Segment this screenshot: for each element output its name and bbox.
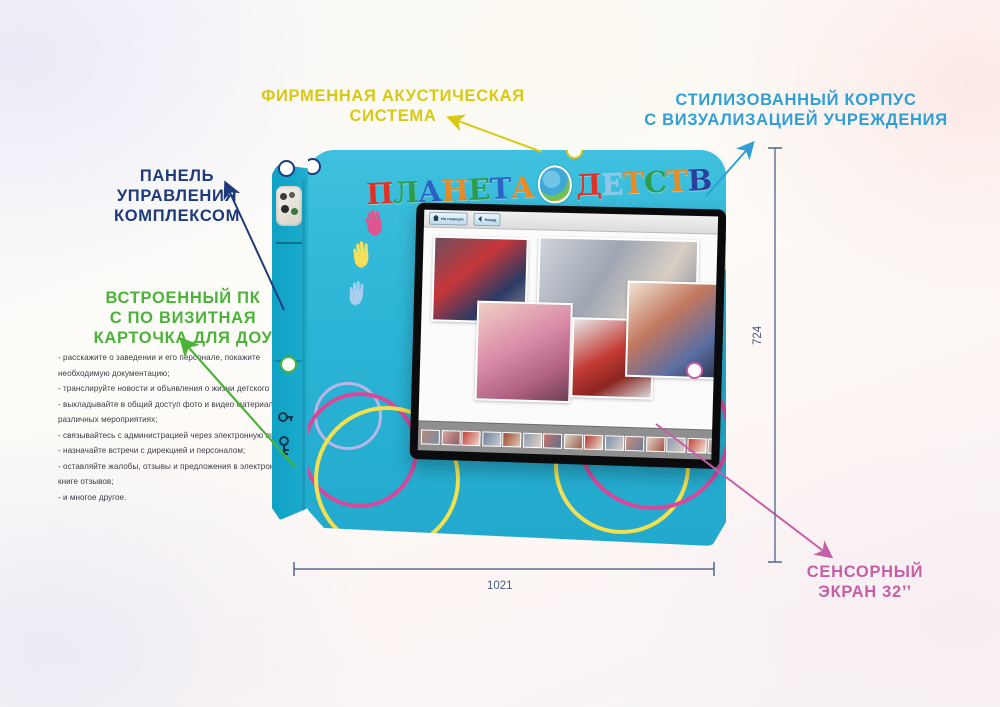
thumbnail[interactable] xyxy=(522,432,541,448)
brand-letter: Е xyxy=(468,172,491,207)
brand-letter: Л xyxy=(392,175,419,210)
dimension-height-label: 724 xyxy=(752,326,764,345)
callout-acoustic-system: ФИРМЕННАЯ АКУСТИЧЕСКАЯСИСТЕМА xyxy=(228,86,558,126)
thumbnail[interactable] xyxy=(707,438,712,454)
callout-acoustic-system-label: ФИРМЕННАЯ АКУСТИЧЕСКАЯСИСТЕМА xyxy=(261,87,525,125)
callout-control-panel: ПАНЕЛЬУПРАВЛЕНИЯКОМПЛЕКСОМ xyxy=(62,166,292,226)
connector-dot-acoustic xyxy=(566,142,583,159)
key-icon xyxy=(278,436,294,458)
brand-letter: В xyxy=(687,163,712,198)
brand-letter: Т xyxy=(489,171,511,206)
brand-letter: А xyxy=(510,170,535,205)
back-button-label: Назад xyxy=(485,217,497,222)
thumbnail[interactable] xyxy=(543,433,562,449)
dimension-line-height xyxy=(768,148,782,562)
handprint-icon xyxy=(345,278,370,312)
thumbnail[interactable] xyxy=(604,435,623,451)
description-block: - расскажите о заведении и его персонале… xyxy=(58,350,300,505)
thumbnail[interactable] xyxy=(666,437,686,453)
thumbnail[interactable] xyxy=(482,431,501,447)
brand-letter: Т xyxy=(622,166,644,201)
screen-content[interactable]: На главную Назад xyxy=(418,210,718,460)
photo-gallery[interactable] xyxy=(418,228,718,460)
chevron-left-icon xyxy=(478,216,483,223)
thumbnail[interactable] xyxy=(584,434,603,450)
brand-letter: С xyxy=(643,165,667,200)
thumbnail[interactable] xyxy=(421,429,440,445)
description-line: - назначайте встречи с дирекцией и персо… xyxy=(58,443,300,459)
kiosk-front-body: ПЛАНЕТАДЕТСТВА xyxy=(308,150,726,546)
callout-styled-body-label: СТИЛИЗОВАННЫЙ КОРПУСС ВИЗУАЛИЗАЦИЕЙ УЧРЕ… xyxy=(644,91,948,129)
callout-control-panel-label: ПАНЕЛЬУПРАВЛЕНИЯКОМПЛЕКСОМ xyxy=(114,167,240,225)
globe-icon xyxy=(537,165,573,204)
touchscreen[interactable]: На главную Назад xyxy=(410,203,727,470)
lock-icon xyxy=(278,410,294,424)
home-icon xyxy=(433,215,439,222)
callout-touchscreen-label: СЕНСОРНЫЙЭКРАН 32’’ xyxy=(807,563,923,601)
callout-built-in-pc-label: ВСТРОЕННЫЙ ПКС ПО ВИЗИТНАЯКАРТОЧКА ДЛЯ Д… xyxy=(94,289,273,347)
description-line: - выкладывайте в общий доступ фото и вид… xyxy=(58,397,300,428)
thumbnail[interactable] xyxy=(502,431,521,447)
brand-letter: Е xyxy=(601,166,624,201)
thumbnail[interactable] xyxy=(441,430,460,446)
connector-dot-panel-side xyxy=(278,160,295,177)
kiosk-illustration: ПЛАНЕТАДЕТСТВА xyxy=(272,150,724,550)
callout-touchscreen: СЕНСОРНЫЙЭКРАН 32’’ xyxy=(760,562,970,602)
diagram-canvas: ПАНЕЛЬУПРАВЛЕНИЯКОМПЛЕКСОМ ФИРМЕННАЯ АКУ… xyxy=(0,0,1000,707)
dimension-width-label: 1021 xyxy=(487,580,513,592)
brand-letter: Д xyxy=(575,167,602,202)
control-panel-module[interactable] xyxy=(276,186,302,226)
callout-styled-body: СТИЛИЗОВАННЫЙ КОРПУСС ВИЗУАЛИЗАЦИЕЙ УЧРЕ… xyxy=(596,90,996,130)
gallery-photo[interactable] xyxy=(475,301,573,404)
thumbnail[interactable] xyxy=(461,430,480,446)
brand-letter: Т xyxy=(666,164,688,199)
thumbnail-filmstrip[interactable] xyxy=(418,420,712,459)
dimension-line-width xyxy=(294,562,714,576)
back-button[interactable]: Назад xyxy=(474,213,501,227)
home-button[interactable]: На главную xyxy=(429,212,468,226)
description-line: - связывайтесь с администрацией через эл… xyxy=(58,428,300,444)
connector-dot-pc xyxy=(280,356,297,373)
connector-dot-touchscreen xyxy=(686,362,703,379)
gallery-photo[interactable] xyxy=(625,281,718,380)
description-line: - расскажите о заведении и его персонале… xyxy=(58,350,300,381)
thumbnail[interactable] xyxy=(563,433,582,449)
home-button-label: На главную xyxy=(441,216,464,222)
thumbnail[interactable] xyxy=(687,437,707,453)
thumbnail[interactable] xyxy=(645,436,665,452)
description-line: - транслируйте новости и объявления о жи… xyxy=(58,381,300,397)
description-line: - и многое другое. xyxy=(58,490,300,506)
description-line: - оставляйте жалобы, отзывы и предложени… xyxy=(58,459,300,490)
thumbnail[interactable] xyxy=(625,435,645,451)
handprint-icon xyxy=(348,237,378,275)
